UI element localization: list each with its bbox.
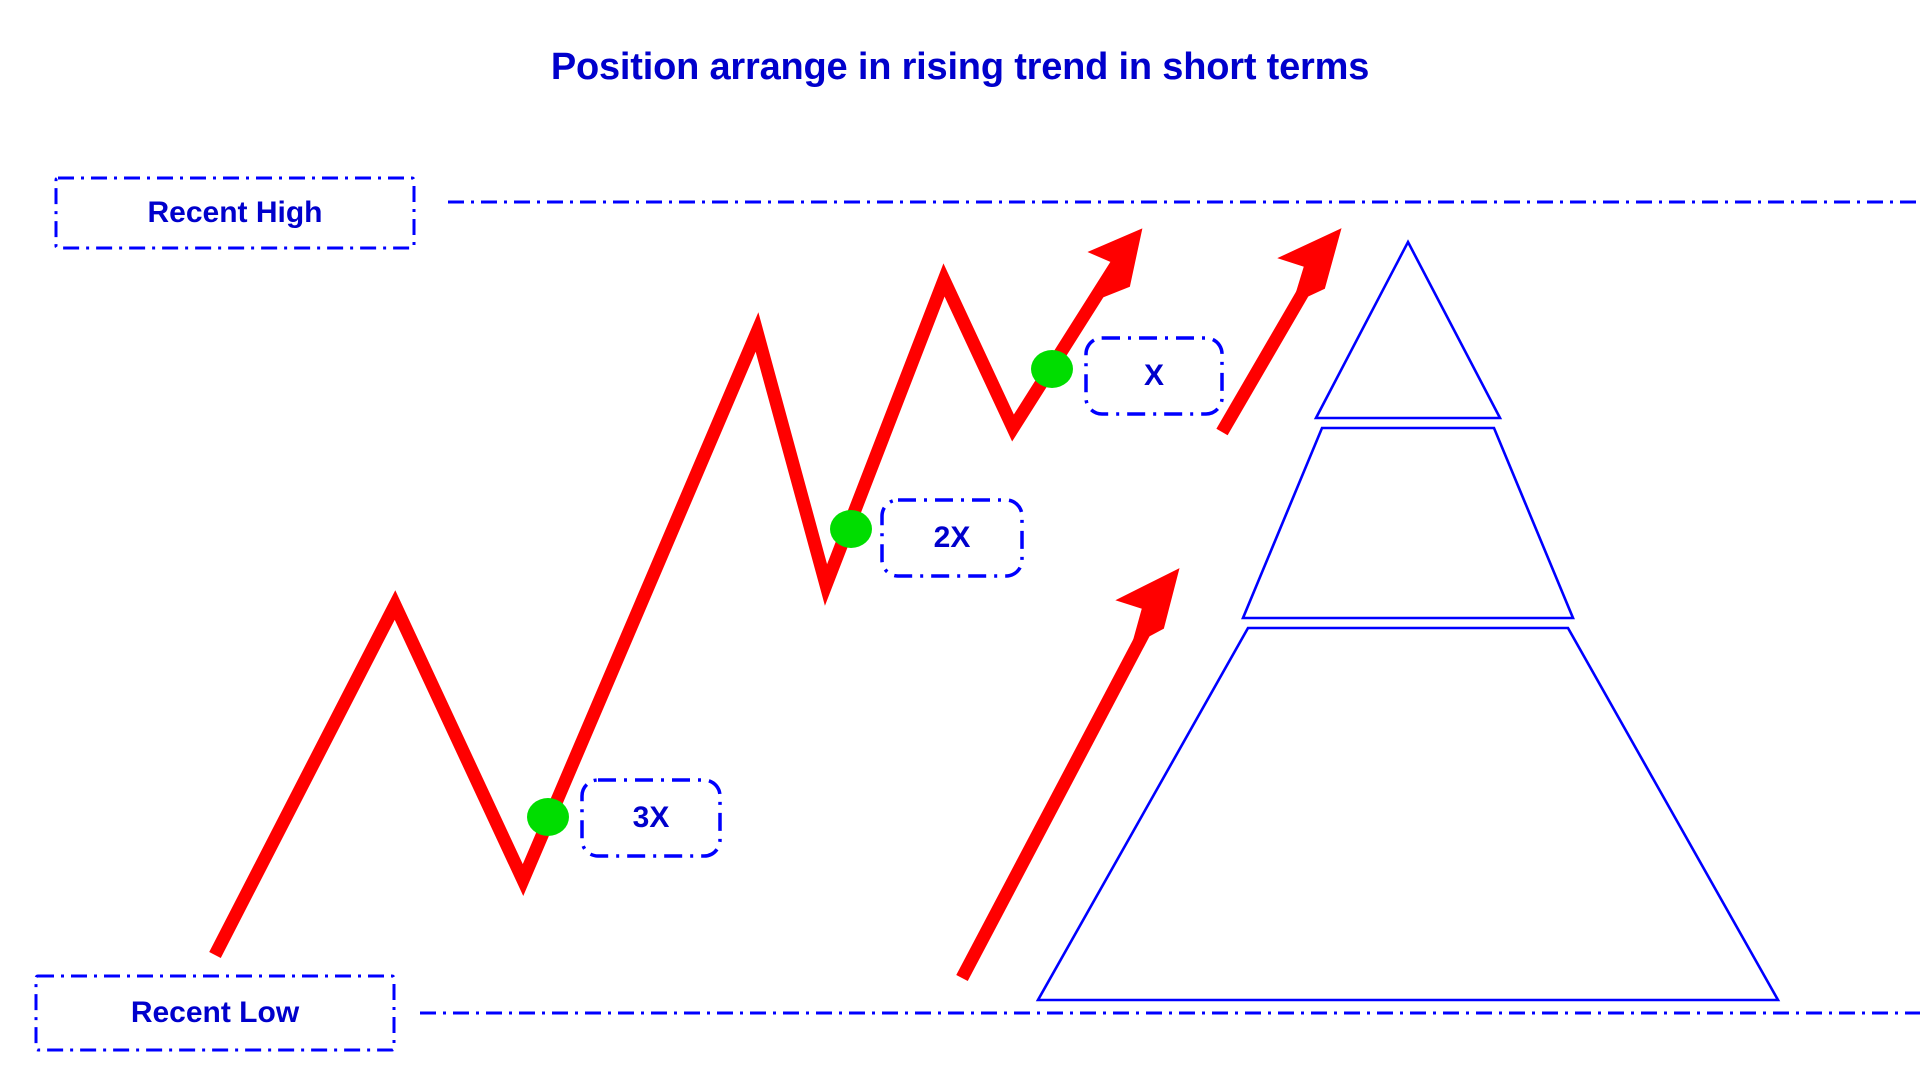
slide-canvas: Position arrange in rising trend in shor… xyxy=(0,0,1920,1081)
recent-high-label-wrap: Recent High xyxy=(56,178,414,248)
size-2x-callout[interactable]: 2X xyxy=(882,500,1022,576)
entry-dot-3x[interactable] xyxy=(527,798,569,836)
pyramid-tier-middle xyxy=(1243,428,1573,618)
accumulation-arrow-lower-head xyxy=(1118,570,1178,644)
size-2x-label: 2X xyxy=(934,523,971,553)
entry-dot-2x[interactable] xyxy=(830,510,872,548)
entry-dot-1x[interactable] xyxy=(1031,350,1073,388)
pyramid-tier-bottom xyxy=(1038,628,1778,1000)
pyramid-tier-top xyxy=(1316,242,1500,418)
recent-low-label-wrap: Recent Low xyxy=(36,976,394,1050)
size-3x-callout[interactable]: 3X xyxy=(582,780,720,856)
accumulation-arrow-upper-head xyxy=(1280,230,1340,302)
size-3x-label: 3X xyxy=(633,803,670,833)
recent-low-label: Recent Low xyxy=(131,996,299,1030)
recent-high-label: Recent High xyxy=(147,196,322,230)
accumulation-arrow-lower-shaft xyxy=(962,612,1155,978)
size-1x-label: X xyxy=(1144,361,1164,391)
size-1x-callout[interactable]: X xyxy=(1086,338,1222,414)
